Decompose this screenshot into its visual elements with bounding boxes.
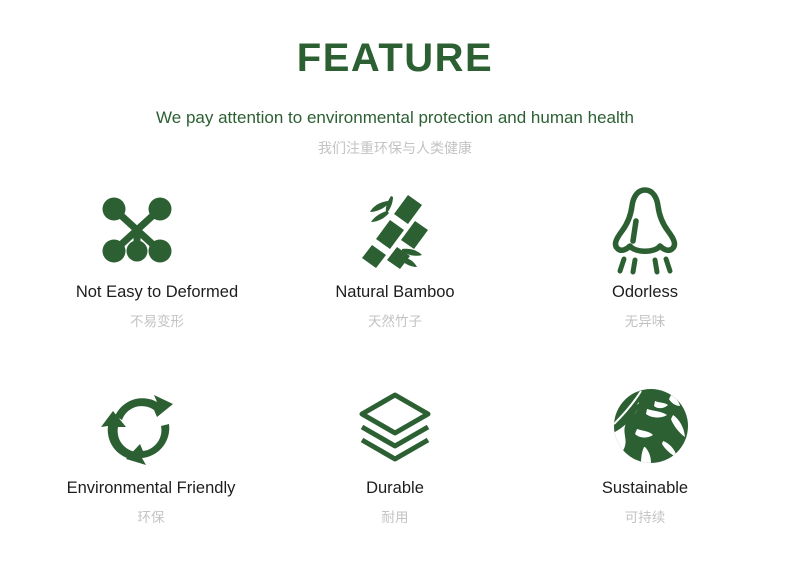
feature-label-en: Durable — [366, 479, 424, 499]
feature-section: FEATURE We pay attention to environmenta… — [0, 0, 790, 576]
nose-icon — [607, 181, 683, 279]
page-title: FEATURE — [0, 36, 790, 80]
feature-label-cn: 环保 — [138, 510, 165, 526]
feature-item-natural-bamboo: Natural Bamboo 天然竹子 — [270, 181, 520, 377]
feature-label-en: Environmental Friendly — [67, 479, 236, 499]
feature-item-odorless: Odorless 无异味 — [520, 181, 770, 377]
feature-label-en: Not Easy to Deformed — [76, 283, 238, 303]
subtitle-english: We pay attention to environmental protec… — [0, 80, 790, 128]
feature-item-not-easy-to-deformed: Not Easy to Deformed 不易变形 — [20, 181, 270, 377]
feature-label-cn: 可持续 — [625, 510, 666, 526]
feature-label-en: Odorless — [612, 283, 678, 303]
feature-item-sustainable: Sustainable 可持续 — [520, 377, 770, 573]
bamboo-icon — [358, 181, 432, 279]
globe-leaf-icon — [611, 377, 691, 475]
section-header: FEATURE We pay attention to environmenta… — [0, 0, 790, 157]
feature-item-environmental-friendly: Environmental Friendly 环保 — [20, 377, 270, 573]
feature-label-cn: 耐用 — [382, 510, 409, 526]
molecule-nodes-icon — [100, 181, 174, 279]
feature-label-cn: 不易变形 — [130, 314, 184, 330]
layers-icon — [357, 377, 433, 475]
recycle-icon — [101, 377, 181, 475]
feature-label-cn: 无异味 — [625, 314, 666, 330]
feature-label-en: Sustainable — [602, 479, 688, 499]
feature-grid: Not Easy to Deformed 不易变形 — [0, 181, 790, 573]
feature-item-durable: Durable 耐用 — [270, 377, 520, 573]
feature-label-en: Natural Bamboo — [335, 283, 454, 303]
subtitle-chinese: 我们注重环保与人类健康 — [0, 128, 790, 157]
feature-label-cn: 天然竹子 — [368, 314, 422, 330]
